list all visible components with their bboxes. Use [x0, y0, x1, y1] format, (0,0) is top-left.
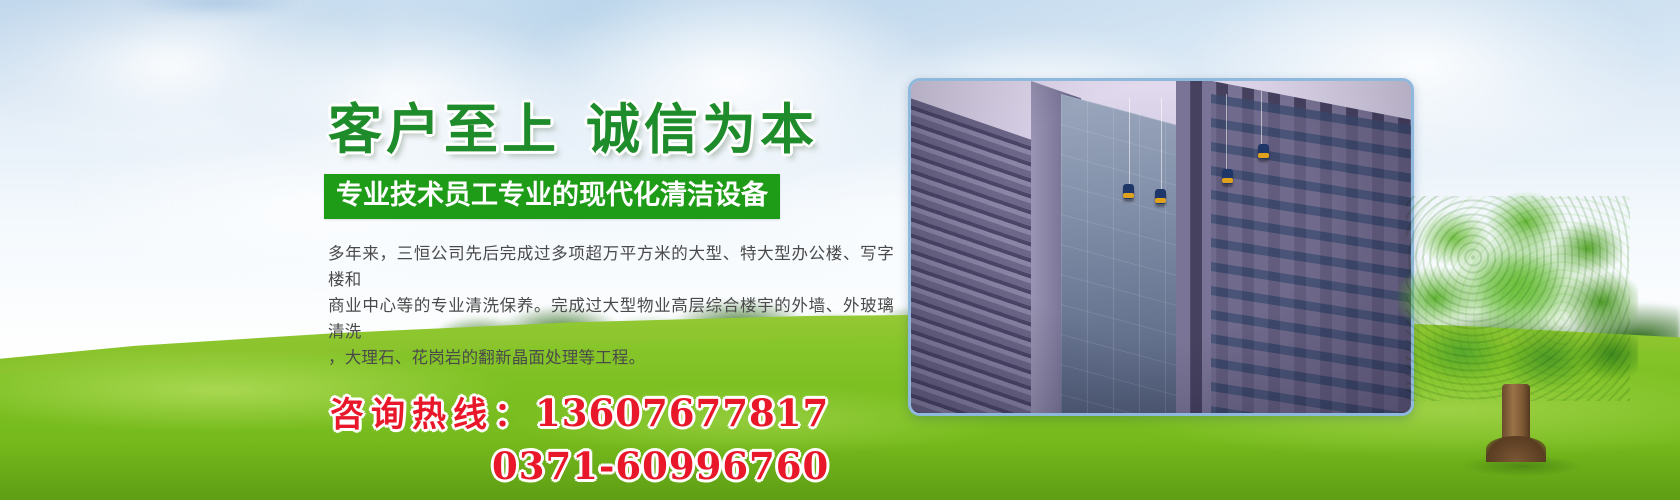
building-photo-frame	[908, 78, 1414, 416]
hotline-phone-mobile[interactable]: 13607677817	[535, 391, 829, 435]
tagline-text: 专业技术员工专业的现代化清洁设备	[336, 180, 768, 211]
headline-part-1: 客户至上	[328, 97, 560, 161]
description-paragraph: 多年来，三恒公司先后完成过多项超万平方米的大型、特大型办公楼、写字楼和 商业中心…	[328, 241, 894, 371]
description-line-2: 商业中心等的专业清洗保养。完成过大型物业高层综合楼宇的外墙、外玻璃清洗	[328, 293, 894, 345]
description-line-3: ，大理石、花岗岩的翻新晶面处理等工程。	[328, 345, 894, 371]
hotline-row: 咨询热线：13607677817	[330, 387, 902, 436]
building-photo	[911, 81, 1411, 413]
sky-blue-patch	[120, 0, 300, 18]
photo-vignette	[911, 81, 1411, 413]
headline: 客户至上诚信为本	[328, 98, 902, 160]
tree-trunk	[1502, 384, 1530, 462]
tagline-bar: 专业技术员工专业的现代化清洁设备	[324, 174, 780, 219]
hero-banner: 客户至上诚信为本 专业技术员工专业的现代化清洁设备 多年来，三恒公司先后完成过多…	[0, 0, 1680, 500]
tree-canopy-texture	[1406, 196, 1630, 401]
headline-part-2: 诚信为本	[586, 97, 818, 161]
tree-graphic	[1398, 186, 1638, 476]
hotline-phone-landline[interactable]: 0371-60996760	[492, 444, 902, 488]
hotline-label: 咨询热线：	[330, 395, 535, 435]
copy-block: 客户至上诚信为本 专业技术员工专业的现代化清洁设备 多年来，三恒公司先后完成过多…	[322, 98, 902, 488]
description-line-1: 多年来，三恒公司先后完成过多项超万平方米的大型、特大型办公楼、写字楼和	[328, 241, 894, 293]
